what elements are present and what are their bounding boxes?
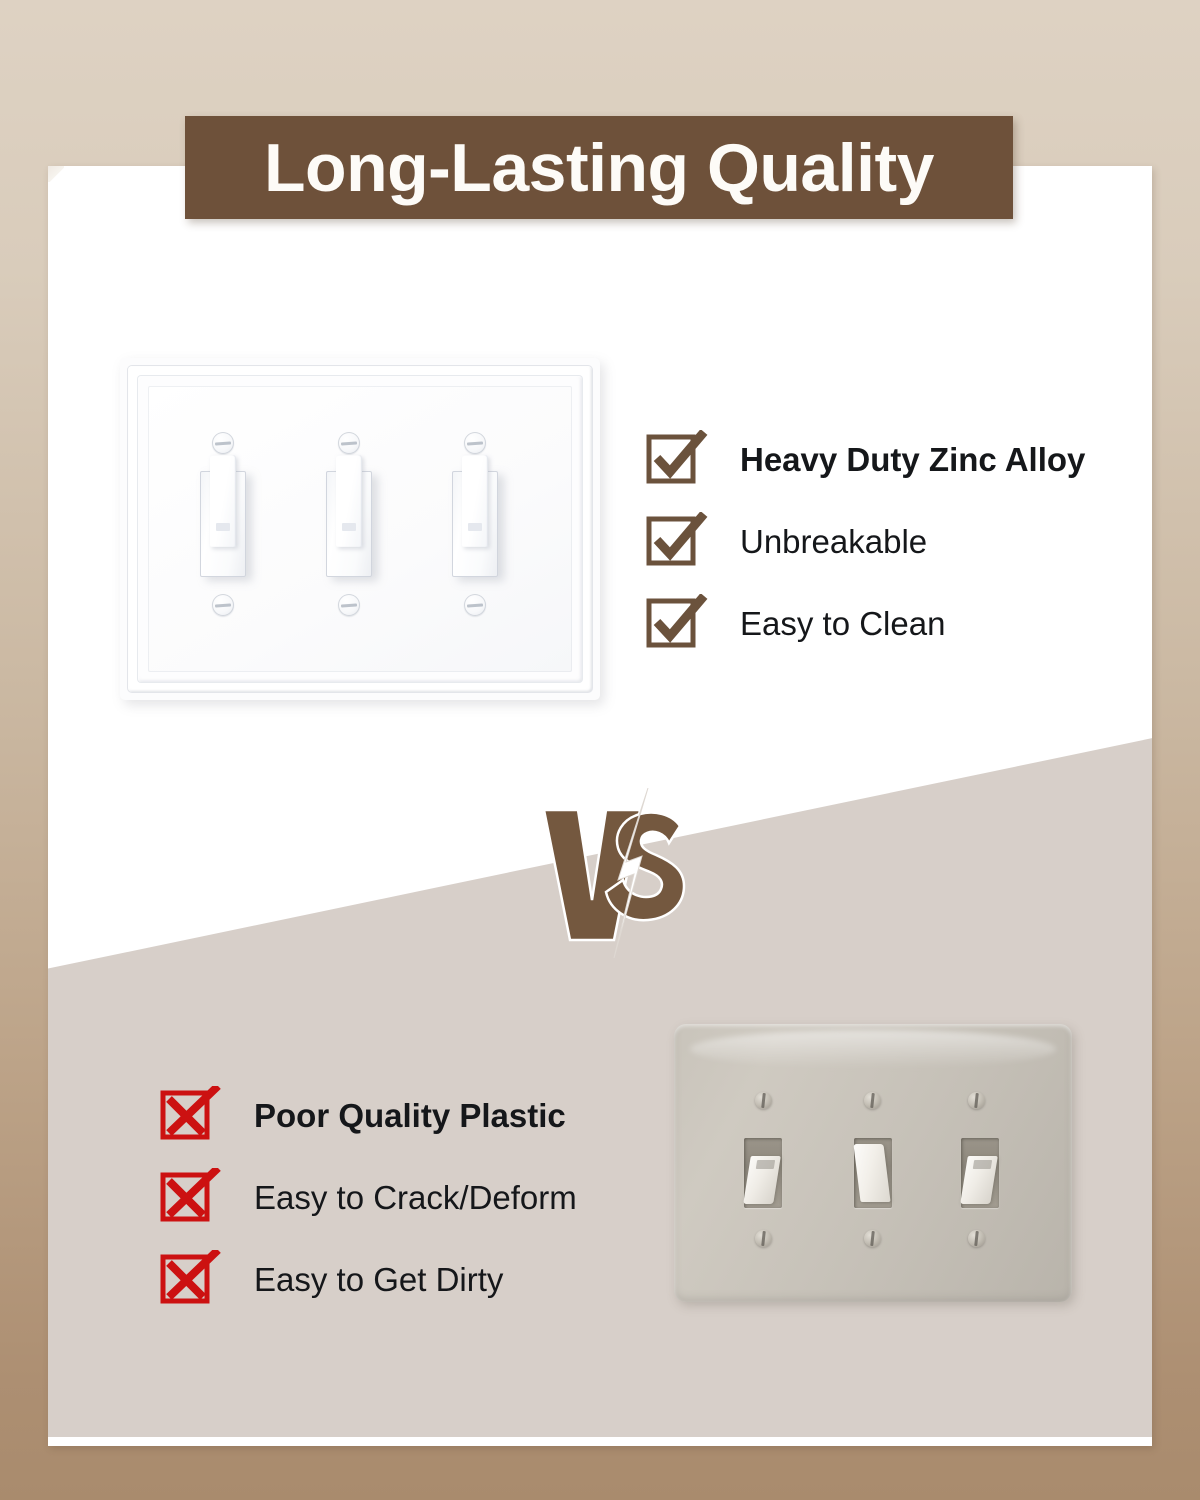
list-item: Easy to Crack/Deform: [160, 1156, 680, 1238]
cross-box-icon: [160, 1250, 222, 1308]
toggle-switch[interactable]: [200, 471, 246, 577]
toggle-lever-mark: [468, 523, 482, 531]
toggle-lever: [743, 1156, 781, 1204]
plate-face: [148, 386, 572, 672]
toggle-lever-mark: [342, 523, 356, 531]
screw-icon: [755, 1092, 772, 1109]
toggle-switch[interactable]: [326, 471, 372, 577]
screw-icon: [968, 1230, 985, 1247]
screw-icon: [464, 594, 486, 616]
cross-box-icon: [160, 1086, 222, 1144]
screw-icon: [212, 432, 234, 454]
panel-corner-notch: [48, 166, 64, 182]
list-item: Poor Quality Plastic: [160, 1074, 680, 1156]
list-item: Easy to Clean: [646, 582, 1152, 664]
list-item-label: Unbreakable: [740, 525, 927, 558]
screw-icon: [338, 594, 360, 616]
toggle-lever: [853, 1144, 890, 1202]
toggle-lever: [336, 455, 362, 547]
list-item-label: Easy to Clean: [740, 607, 945, 640]
toggle-lever: [210, 455, 236, 547]
list-item-label: Heavy Duty Zinc Alloy: [740, 443, 1085, 476]
check-box-icon: [646, 430, 708, 488]
toggle-lever: [462, 455, 488, 547]
toggle-off-marking: [973, 1160, 992, 1169]
screw-icon: [464, 432, 486, 454]
screw-icon: [864, 1230, 881, 1247]
list-item-label: Poor Quality Plastic: [254, 1099, 566, 1132]
title-banner: Long-Lasting Quality: [185, 116, 1013, 219]
infographic-canvas: Heavy Duty Zinc Alloy Unbreakable: [0, 0, 1200, 1500]
list-item-label: Easy to Crack/Deform: [254, 1181, 577, 1214]
toggle-switch[interactable]: [961, 1138, 999, 1208]
list-item: Heavy Duty Zinc Alloy: [646, 418, 1152, 500]
check-box-icon: [646, 512, 708, 570]
screw-icon: [864, 1092, 881, 1109]
con-feature-list: Poor Quality Plastic Easy to Crack/Defor…: [160, 1074, 680, 1320]
toggle-switch[interactable]: [452, 471, 498, 577]
list-item: Easy to Get Dirty: [160, 1238, 680, 1320]
vs-badge: [522, 788, 722, 958]
toggle-lever: [960, 1156, 998, 1204]
plate-highlight: [690, 1030, 1056, 1069]
beige-switch-plate-image: [668, 1018, 1078, 1308]
screw-icon: [968, 1092, 985, 1109]
check-box-icon: [646, 594, 708, 652]
cross-box-icon: [160, 1168, 222, 1226]
toggle-switch[interactable]: [744, 1138, 782, 1208]
screw-icon: [338, 432, 360, 454]
screw-icon: [212, 594, 234, 616]
toggle-switch[interactable]: [854, 1138, 892, 1208]
content-panel: Heavy Duty Zinc Alloy Unbreakable: [48, 166, 1152, 1446]
list-item: Unbreakable: [646, 500, 1152, 582]
page-title: Long-Lasting Quality: [264, 134, 934, 202]
pro-feature-list: Heavy Duty Zinc Alloy Unbreakable: [646, 418, 1152, 664]
list-item-label: Easy to Get Dirty: [254, 1263, 503, 1296]
plastic-plate-body: [674, 1024, 1072, 1302]
toggle-lever-mark: [216, 523, 230, 531]
white-switch-plate-image: [120, 358, 600, 700]
toggle-off-marking: [756, 1160, 775, 1169]
screw-icon: [755, 1230, 772, 1247]
